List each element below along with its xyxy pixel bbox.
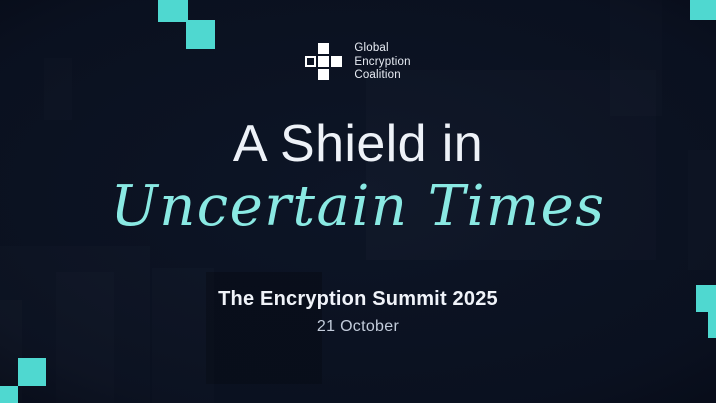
logo-square-center: [318, 56, 329, 67]
logo-square-right: [331, 56, 342, 67]
event-title: The Encryption Summit 2025: [0, 288, 716, 311]
headline-line-1: A Shield in: [0, 114, 716, 174]
logo-square-bottom: [318, 69, 329, 80]
accent-square-top-left-upper: [158, 0, 188, 22]
accent-square-bottom-left-edge: [0, 386, 18, 403]
accent-square-bottom-left: [18, 358, 46, 386]
headline-line-2: Uncertain Times: [0, 174, 716, 239]
logo-wordmark-line-3: Coalition: [354, 69, 410, 83]
global-encryption-coalition-mark: [305, 43, 343, 81]
logo-lockup: Global Encryption Coalition: [0, 42, 716, 83]
logo-wordmark-line-2: Encryption: [354, 56, 410, 70]
logo-wordmark-line-1: Global: [354, 42, 410, 56]
logo-square-left-outline: [305, 56, 316, 67]
subtitle-block: The Encryption Summit 2025 21 October: [0, 288, 716, 336]
event-date: 21 October: [0, 318, 716, 336]
accent-square-top-right: [690, 0, 716, 20]
logo-wordmark: Global Encryption Coalition: [354, 42, 410, 83]
logo-square-top: [318, 43, 329, 54]
presentation-slide: Global Encryption Coalition A Shield in …: [0, 0, 716, 403]
